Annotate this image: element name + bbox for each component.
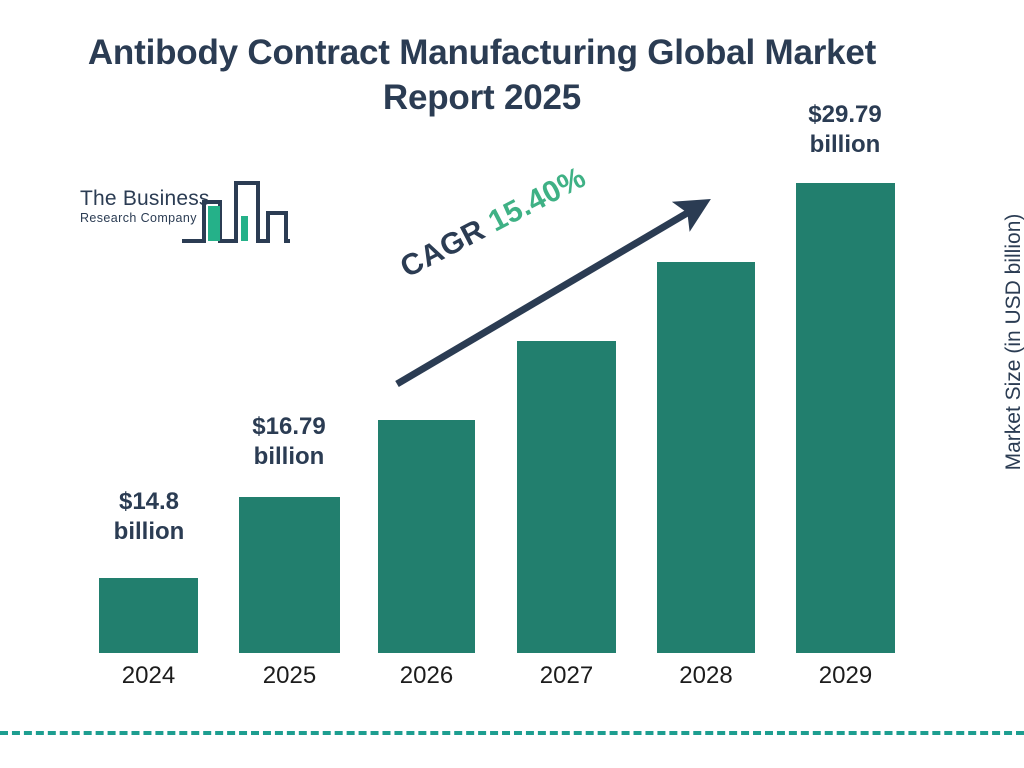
x-tick-2028: 2028 bbox=[646, 662, 766, 690]
footer-divider bbox=[0, 731, 1024, 735]
x-tick-2026: 2026 bbox=[367, 662, 487, 690]
bar-value-label-2024: $14.8 billion bbox=[74, 487, 224, 547]
bar-value-label-2029: $29.79 billion bbox=[770, 100, 920, 160]
bar-2024 bbox=[99, 578, 198, 653]
x-tick-2027: 2027 bbox=[507, 662, 627, 690]
bar-2025 bbox=[239, 497, 340, 653]
bar-2028 bbox=[657, 262, 755, 653]
plot-area: $14.8 billion2024$16.79 billion202520262… bbox=[0, 0, 1024, 768]
x-tick-2029: 2029 bbox=[786, 662, 906, 690]
bar-2027 bbox=[517, 341, 616, 653]
bar-value-label-2025: $16.79 billion bbox=[214, 412, 364, 472]
chart-page: Antibody Contract Manufacturing Global M… bbox=[0, 0, 1024, 768]
x-tick-2024: 2024 bbox=[89, 662, 209, 690]
bar-2026 bbox=[378, 420, 475, 653]
y-axis-label: Market Size (in USD billion) bbox=[1002, 192, 1024, 492]
bar-2029 bbox=[796, 183, 895, 653]
x-tick-2025: 2025 bbox=[230, 662, 350, 690]
